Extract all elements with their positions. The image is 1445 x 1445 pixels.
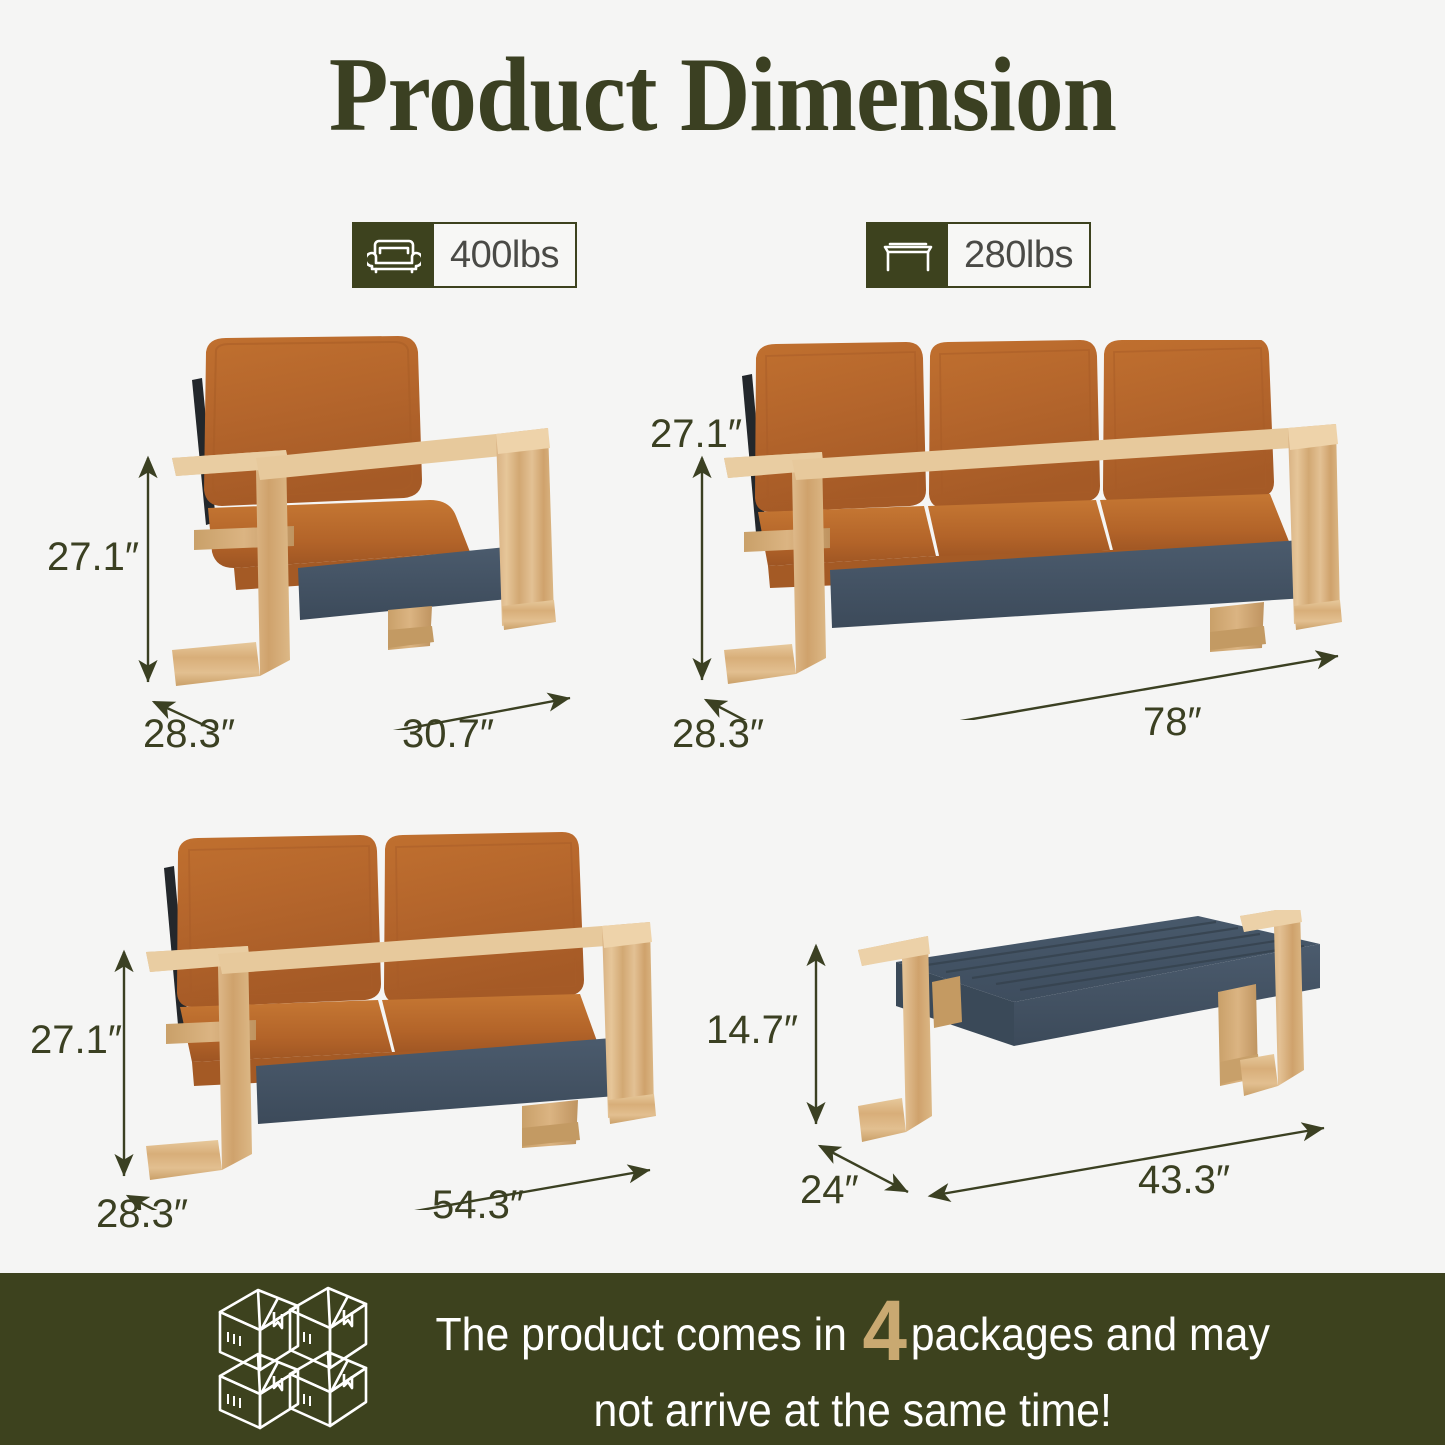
package-count: 4 (859, 1283, 911, 1379)
dim-table-width: 43.3″ (1138, 1158, 1230, 1203)
dim-chair-width: 30.7″ (402, 712, 494, 757)
sofa-icon (354, 224, 434, 286)
packages-icon (212, 1284, 372, 1434)
dim-loveseat-height: 27.1″ (30, 1018, 122, 1063)
product-illustration-coffee-table (800, 910, 1360, 1220)
packages-banner: The product comes in 4packages and may n… (0, 1273, 1445, 1445)
dim-sofa-height: 27.1″ (650, 412, 742, 457)
table-icon (868, 224, 948, 286)
capacity-badge-table: 280lbs (866, 222, 1091, 288)
product-illustration-club-chair (130, 330, 600, 730)
infographic-root: Product Dimension 400lbs (0, 0, 1445, 1445)
banner-line1-before: The product comes in (436, 1308, 847, 1360)
capacity-value-sofa: 400lbs (434, 224, 575, 286)
banner-line1-after: packages and may (911, 1308, 1270, 1360)
dim-chair-height: 27.1″ (47, 535, 139, 580)
page-title: Product Dimension (58, 34, 1387, 156)
product-illustration-three-seat-sofa (690, 340, 1350, 720)
dim-loveseat-depth: 28.3″ (96, 1192, 188, 1237)
capacity-value-table: 280lbs (948, 224, 1089, 286)
dim-loveseat-width: 54.3″ (432, 1183, 524, 1228)
banner-line2: not arrive at the same time! (594, 1384, 1112, 1436)
dim-sofa-depth: 28.3″ (672, 712, 764, 757)
dim-chair-depth: 28.3″ (143, 712, 235, 757)
dim-table-height: 14.7″ (706, 1008, 798, 1053)
capacity-badge-sofa: 400lbs (352, 222, 577, 288)
dim-table-depth: 24″ (800, 1168, 859, 1213)
product-illustration-loveseat (110, 830, 690, 1210)
banner-text: The product comes in 4packages and may n… (410, 1281, 1408, 1437)
dim-sofa-width: 78″ (1143, 700, 1202, 745)
